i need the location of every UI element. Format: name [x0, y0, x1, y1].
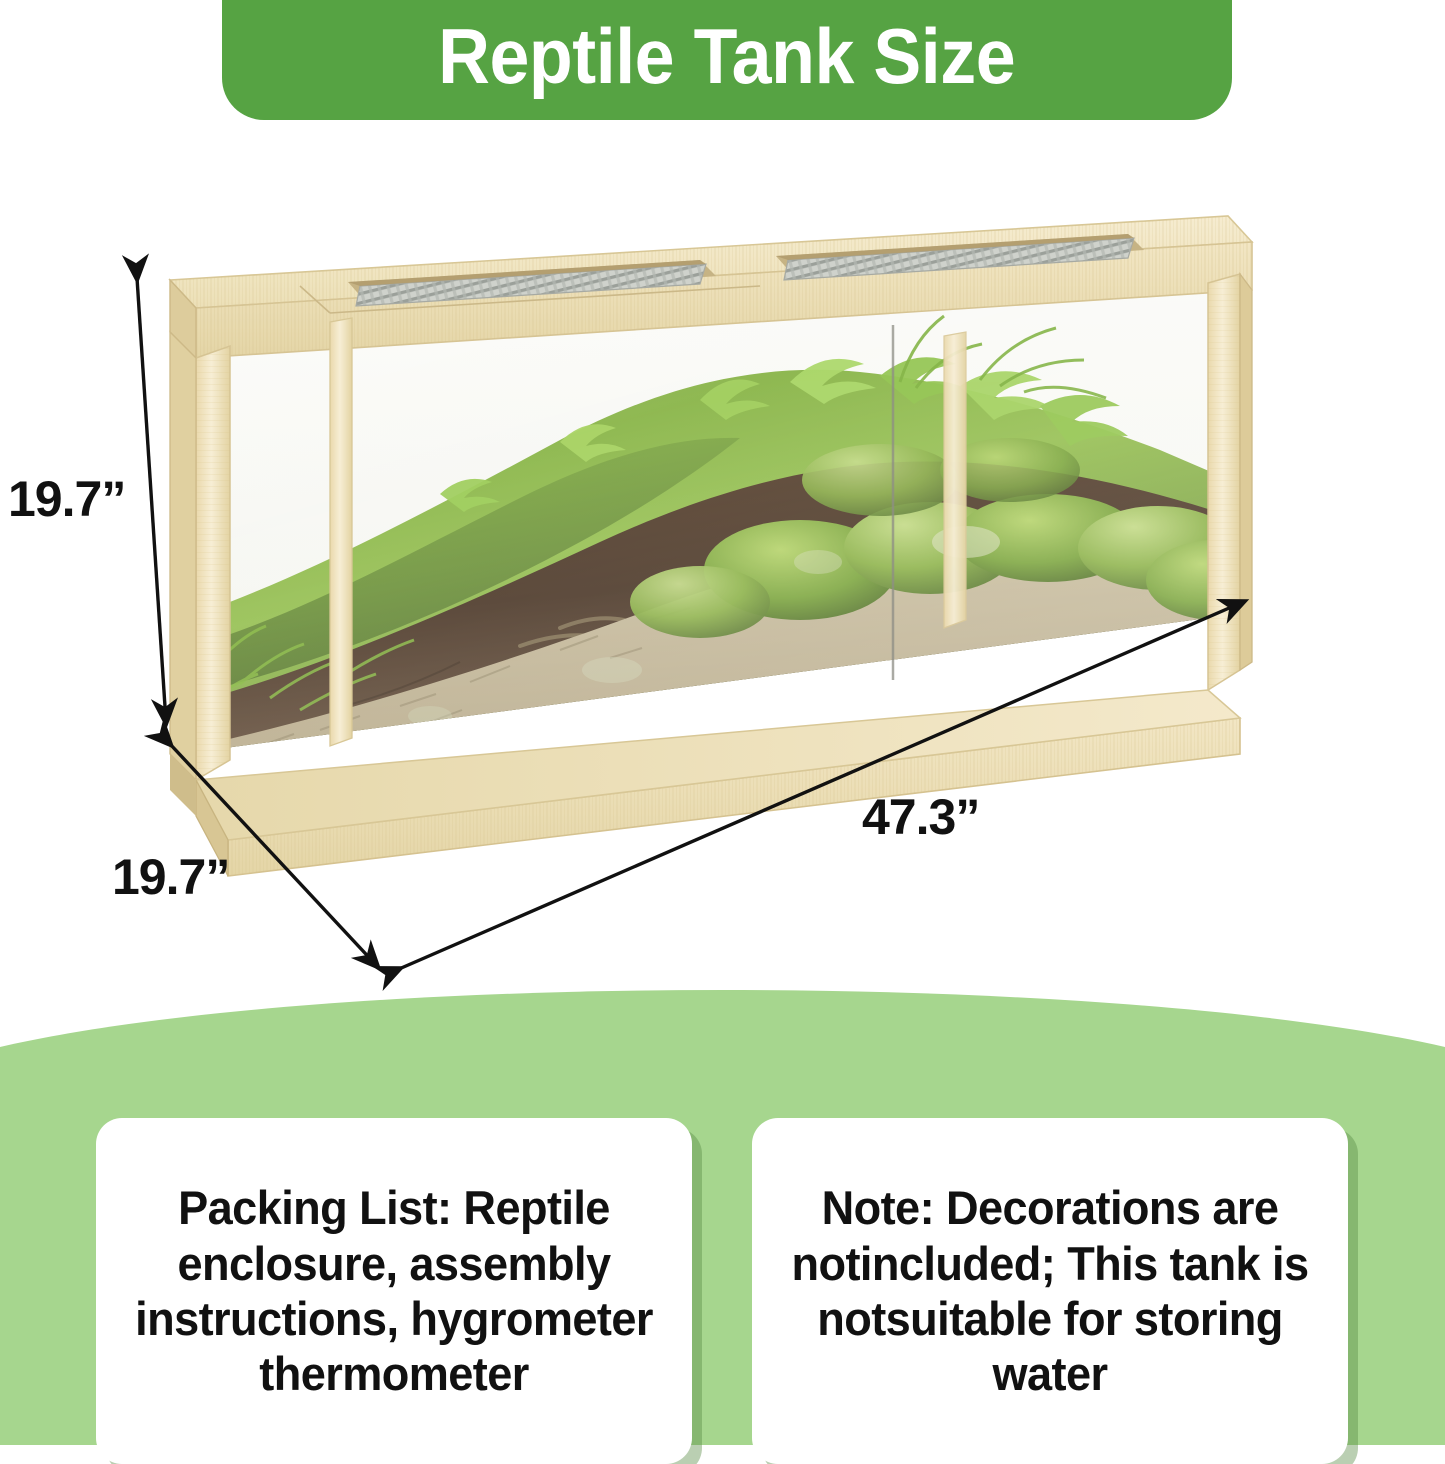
post-back-left — [170, 332, 196, 780]
depth-dimension-label: 19.7” — [112, 848, 229, 906]
width-dimension-label: 47.3” — [862, 788, 979, 846]
post-back-right — [1240, 274, 1252, 670]
note-card: Note: Decorations are notincluded; This … — [752, 1118, 1348, 1464]
info-cards: Packing List: Reptile enclosure, assembl… — [0, 1118, 1445, 1458]
note-text: Note: Decorations are notincluded; This … — [781, 1180, 1319, 1402]
height-dimension-label: 19.7” — [8, 470, 125, 528]
page-title: Reptile Tank Size — [438, 17, 1015, 95]
packing-list-text: Packing List: Reptile enclosure, assembl… — [125, 1180, 663, 1402]
title-banner: Reptile Tank Size — [222, 0, 1232, 120]
post-left-inner — [330, 318, 352, 746]
post-center — [944, 332, 966, 628]
packing-list-card: Packing List: Reptile enclosure, assembl… — [96, 1118, 692, 1464]
